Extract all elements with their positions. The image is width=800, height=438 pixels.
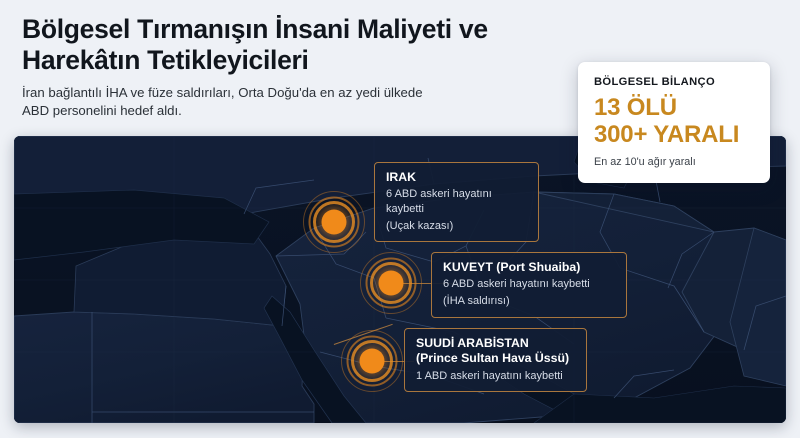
- info-title-suudi: SUUDİ ARABİSTAN (Prince Sultan Hava Üssü…: [416, 336, 575, 367]
- stat-card-kicker: BÖLGESEL BİLANÇO: [594, 76, 754, 88]
- info-line1-suudi: 1 ABD askeri hayatını kaybetti: [416, 369, 575, 384]
- info-line2-irak: (Uçak kazası): [386, 219, 527, 234]
- marker-core: [360, 349, 385, 374]
- info-box-kuveyt[interactable]: KUVEYT (Port Shuaiba) 6 ABD askeri hayat…: [431, 252, 627, 318]
- page-header: Bölgesel Tırmanışın İnsani Maliyeti ve H…: [22, 14, 582, 120]
- info-title-kuveyt: KUVEYT (Port Shuaiba): [443, 260, 615, 275]
- info-box-suudi[interactable]: SUUDİ ARABİSTAN (Prince Sultan Hava Üssü…: [404, 328, 587, 392]
- page-title: Bölgesel Tırmanışın İnsani Maliyeti ve H…: [22, 14, 582, 76]
- info-line2-kuveyt: (İHA saldırısı): [443, 294, 615, 309]
- regional-toll-card[interactable]: BÖLGESEL BİLANÇO 13 ÖLÜ 300+ YARALI En a…: [578, 62, 770, 183]
- info-box-irak[interactable]: IRAK 6 ABD askeri hayatını kaybetti (Uça…: [374, 162, 539, 242]
- info-title-irak: IRAK: [386, 170, 527, 185]
- page-subtitle: İran bağlantılı İHA ve füze saldırıları,…: [22, 84, 582, 120]
- map-marker-suudi[interactable]: [341, 330, 403, 392]
- stat-wounded: 300+ YARALI: [594, 122, 754, 149]
- stat-card-note: En az 10'u ağır yaralı: [594, 156, 754, 168]
- info-line1-irak: 6 ABD askeri hayatını kaybetti: [386, 187, 527, 216]
- map-marker-kuveyt[interactable]: [360, 252, 422, 314]
- marker-core: [322, 210, 347, 235]
- marker-core: [379, 271, 404, 296]
- map-marker-irak[interactable]: [303, 191, 365, 253]
- stat-deaths: 13 ÖLÜ: [594, 95, 754, 122]
- info-line1-kuveyt: 6 ABD askeri hayatını kaybetti: [443, 277, 615, 292]
